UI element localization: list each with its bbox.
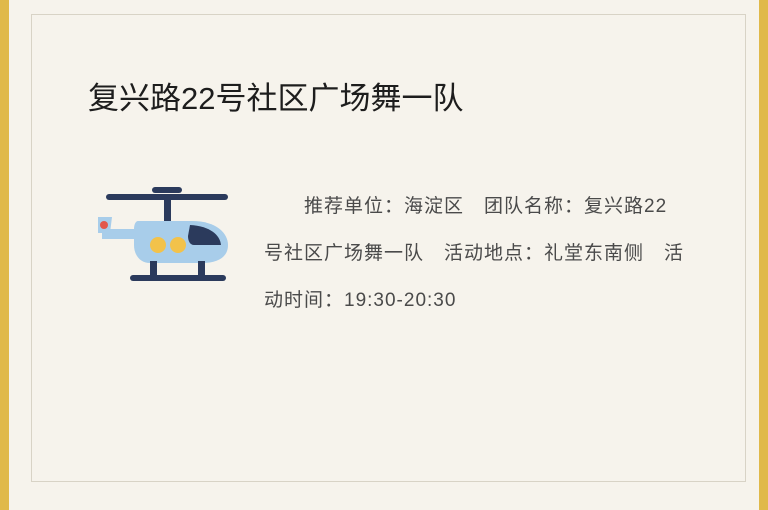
page-title: 复兴路22号社区广场舞一队 — [88, 77, 463, 121]
poster-card: 复兴路22号社区广场舞一队 — [0, 0, 768, 510]
activity-details: 推荐单位：海淀区 团队名称：复兴路22号社区广场舞一队 活动地点：礼堂东南侧 活… — [264, 183, 684, 324]
helicopter-illustration — [94, 183, 244, 293]
inner-frame: 复兴路22号社区广场舞一队 — [31, 14, 746, 482]
